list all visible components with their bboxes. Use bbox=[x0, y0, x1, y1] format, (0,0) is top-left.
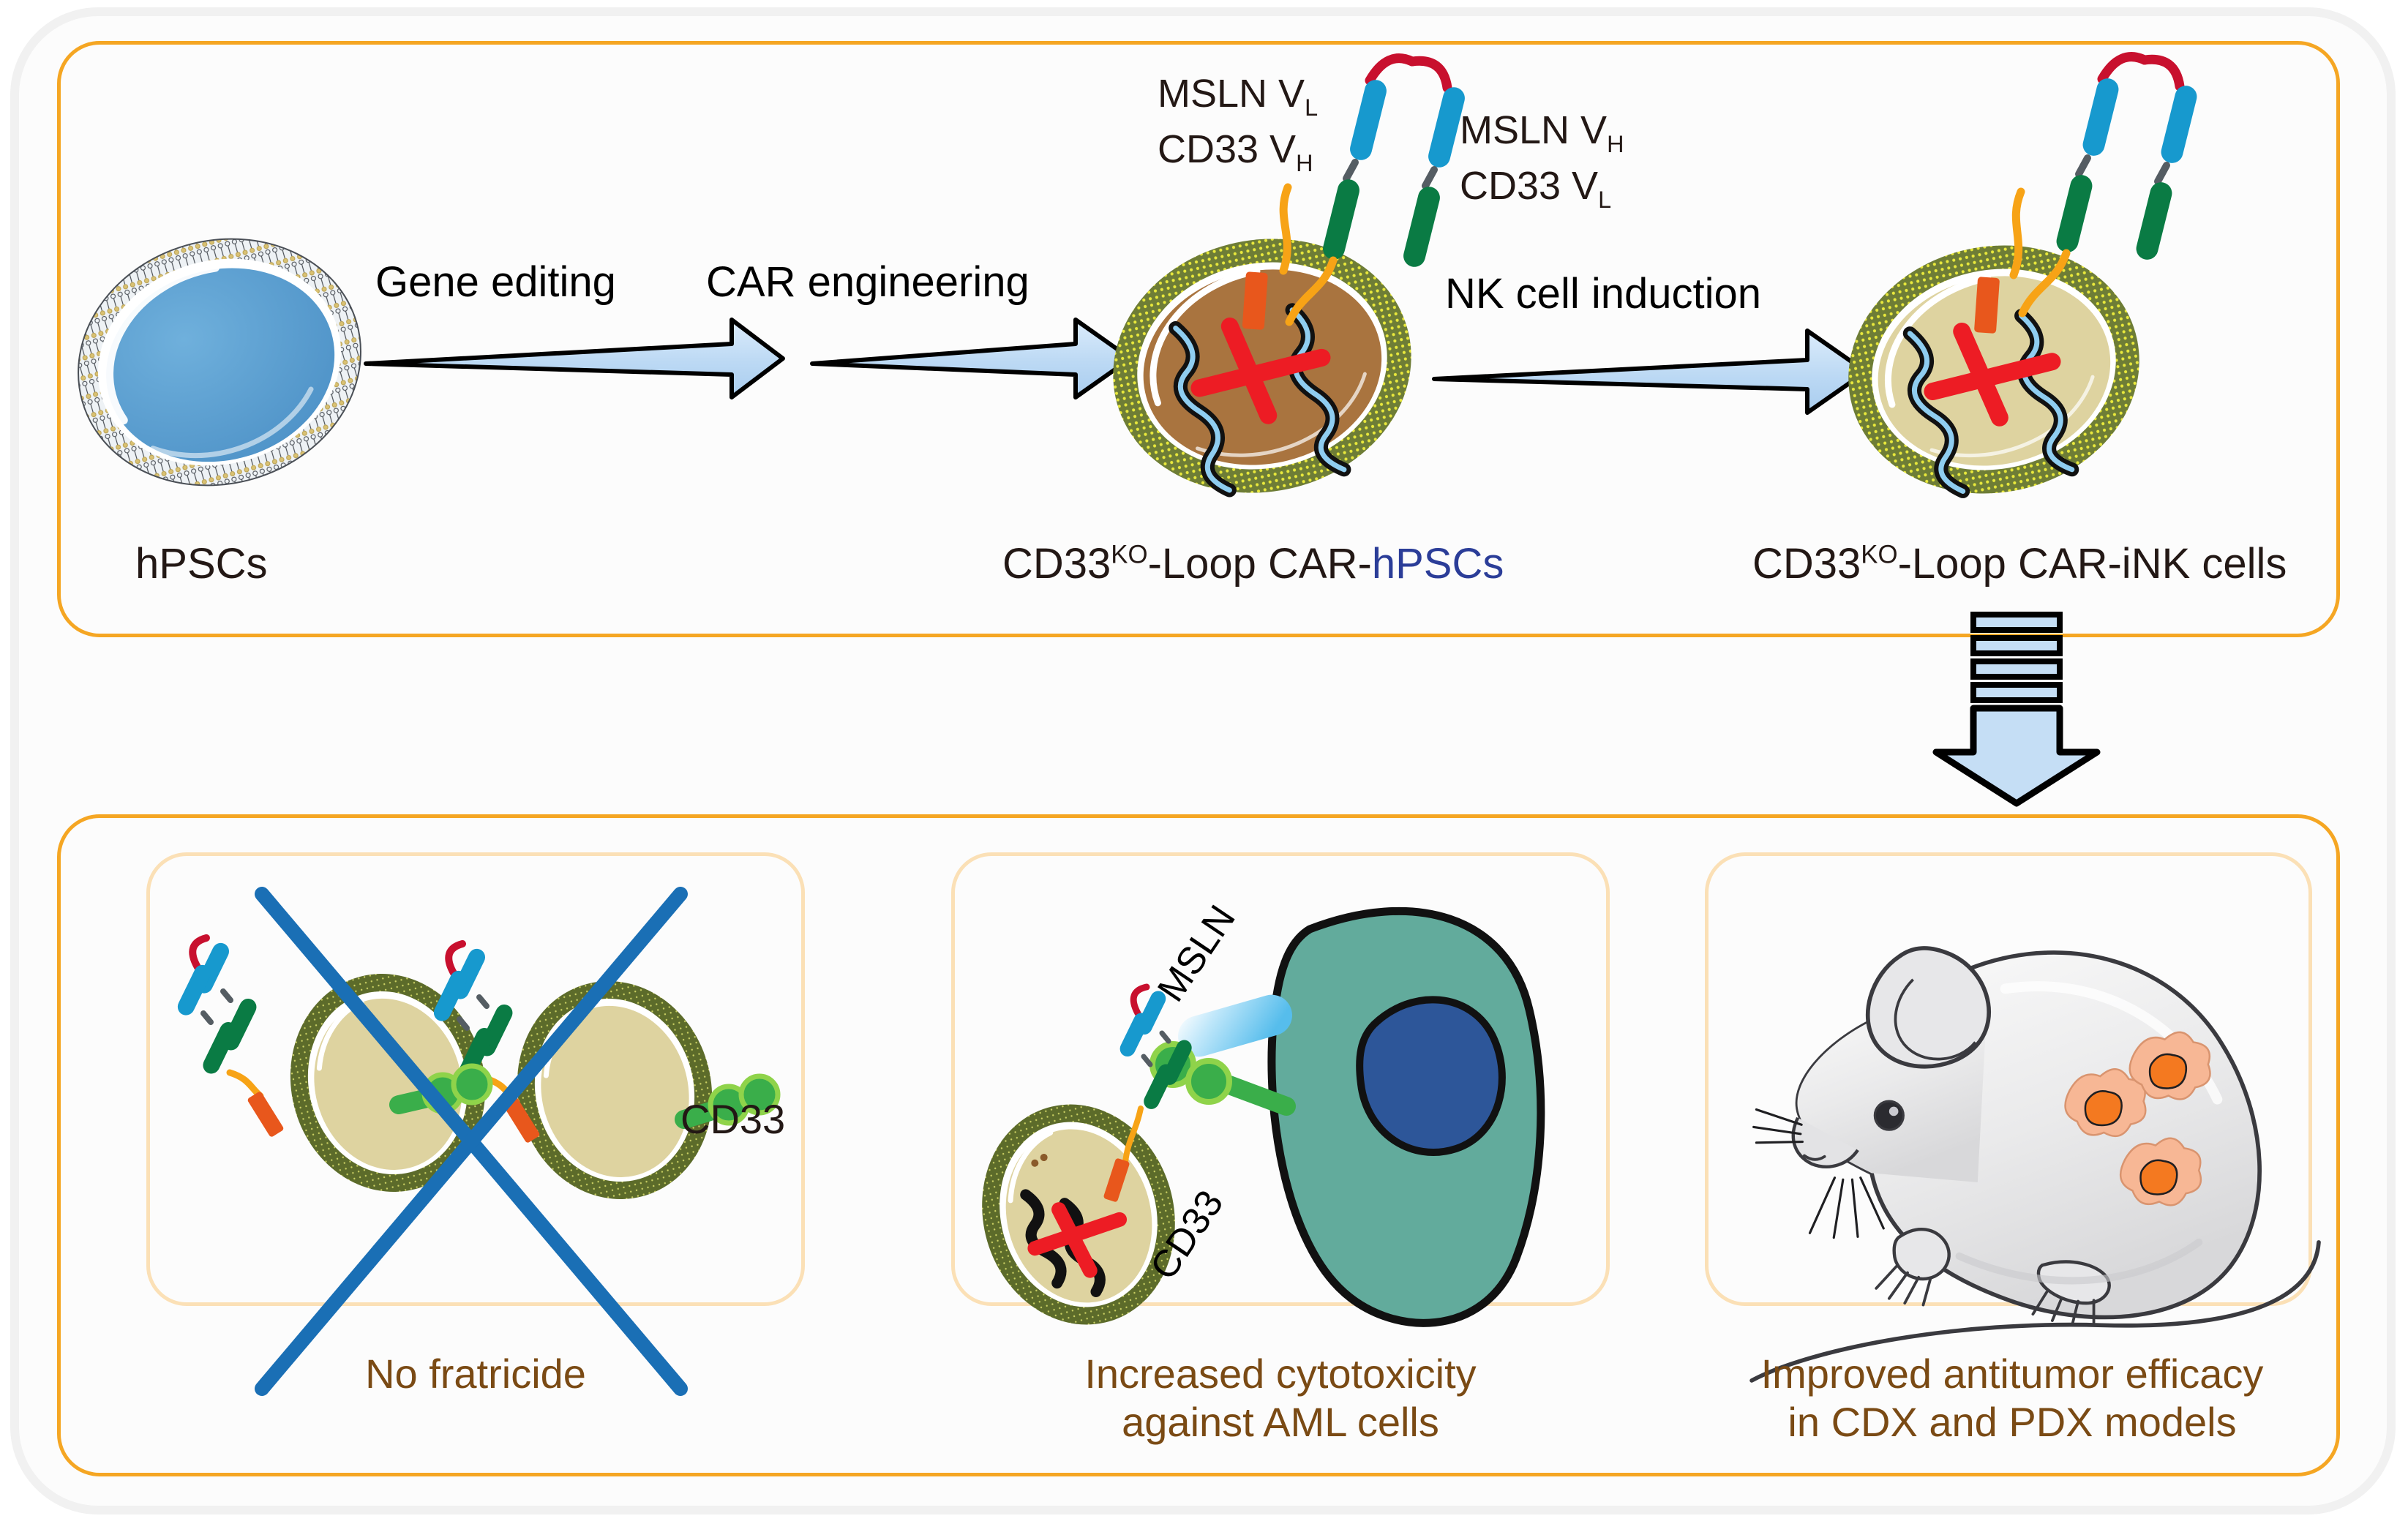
caption-improved-efficacy: Improved antitumor efficacy in CDX and P… bbox=[1698, 1350, 2327, 1446]
figure-canvas: Gene editing CAR engineering NK cell ind… bbox=[0, 0, 2408, 1524]
arrow-label-car-engineering: CAR engineering bbox=[706, 258, 1029, 307]
arrow-label-gene-editing: Gene editing bbox=[375, 258, 616, 307]
car-label-cd33-vl: CD33 VL bbox=[1460, 165, 1611, 212]
car-label-cd33-vh: CD33 VH bbox=[1158, 129, 1313, 176]
caption-no-fratricide: No fratricide bbox=[146, 1350, 805, 1398]
cell-label-cd33ko-loop-car-hpscs: CD33KO-Loop CAR-hPSCs bbox=[1002, 541, 1504, 586]
car-label-mslN-vl: MSLN VL bbox=[1158, 73, 1318, 120]
cell-label-cd33ko-loop-car-ink-cells: CD33KO-Loop CAR-iNK cells bbox=[1752, 541, 2287, 586]
panel-improved-efficacy bbox=[1705, 852, 2312, 1306]
car-label-mslN-vh: MSLN VH bbox=[1460, 110, 1624, 157]
caption-increased-cytotoxicity: Increased cytotoxicity against AML cells bbox=[951, 1350, 1610, 1446]
inline-label-cd33-panel1: CD33 bbox=[680, 1097, 785, 1141]
panel-increased-cytotoxicity bbox=[951, 852, 1610, 1306]
cell-label-hpscs: hPSCs bbox=[135, 541, 268, 586]
arrow-label-nk-induction: NK cell induction bbox=[1445, 269, 1761, 318]
panel-no-fratricide bbox=[146, 852, 805, 1306]
